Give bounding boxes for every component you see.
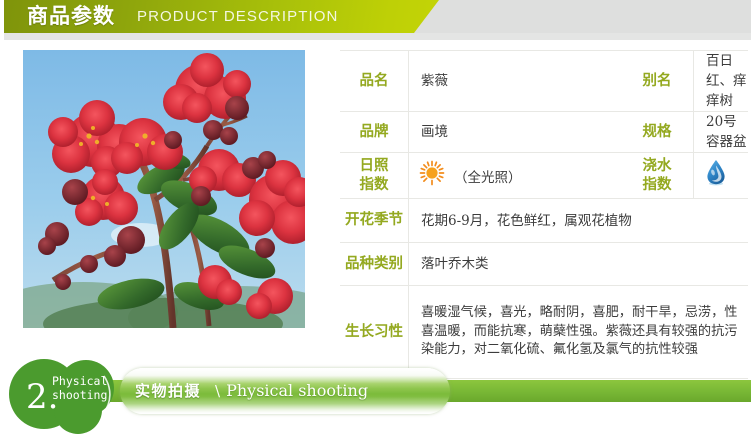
product-spec-table: 品名 紫薇 别名 百日红、痒痒树 品牌 画境 规格 20号容器盆 日照 指数 [340, 50, 748, 379]
footer-title-separator: \ [215, 382, 220, 400]
sun-icon [419, 160, 445, 191]
spec-label-brand: 品牌 [340, 112, 409, 153]
spec-value-product-name: 紫薇 [409, 51, 622, 112]
table-row: 开花季节 花期6-9月，花色鲜红，属观花植物 [340, 199, 748, 243]
page-header-banner: 商品参数 PRODUCT DESCRIPTION [0, 0, 751, 40]
footer-section-title: 实物拍摄\Physical shooting [135, 379, 455, 403]
spec-label-flowering-season: 开花季节 [340, 199, 409, 243]
table-row: 品种类别 落叶乔木类 [340, 243, 748, 286]
spec-label-watering-index: 浇水 指数 [621, 153, 694, 199]
spec-value-alias: 百日红、痒痒树 [694, 51, 749, 112]
table-row: 品名 紫薇 别名 百日红、痒痒树 [340, 51, 748, 112]
spec-label-watering-line1: 浇水 [621, 157, 693, 176]
badge-en-line2: shooting [52, 388, 107, 402]
spec-label-sunlight-line1: 日照 [340, 157, 408, 176]
spec-label-specification: 规格 [621, 112, 694, 153]
badge-english-label: Physical shooting [52, 374, 107, 402]
table-row: 日照 指数 [340, 153, 748, 199]
spec-value-watering-index [694, 153, 749, 199]
footer-title-en: Physical shooting [226, 381, 368, 400]
spec-label-variety-category: 品种类别 [340, 243, 409, 286]
spec-value-specification: 20号容器盆 [694, 112, 749, 153]
spec-label-sunlight-index: 日照 指数 [340, 153, 409, 199]
page-title-cn: 商品参数 [27, 2, 115, 31]
crape-myrtle-photo-illustration [23, 50, 305, 328]
spec-label-product-name: 品名 [340, 51, 409, 112]
footer-title-cn: 实物拍摄 [135, 382, 201, 400]
spec-value-flowering-season: 花期6-9月，花色鲜红，属观花植物 [409, 199, 749, 243]
spec-value-brand: 画境 [409, 112, 622, 153]
spec-label-watering-line2: 指数 [621, 176, 693, 195]
badge-en-line1: Physical [52, 374, 107, 388]
table-row: 品牌 画境 规格 20号容器盆 [340, 112, 748, 153]
product-photo [23, 50, 305, 328]
spec-value-variety-category: 落叶乔木类 [409, 243, 749, 286]
spec-value-sunlight-text: （全光照） [454, 166, 522, 186]
spec-label-sunlight-line2: 指数 [340, 176, 408, 195]
spec-value-sunlight-index: （全光照） [409, 153, 622, 199]
section-footer: 2. Physical shooting 实物拍摄\Physical shoot… [0, 358, 751, 435]
page-title-en: PRODUCT DESCRIPTION [137, 7, 338, 27]
spec-label-alias: 别名 [621, 51, 694, 112]
water-drop-icon [706, 174, 726, 190]
